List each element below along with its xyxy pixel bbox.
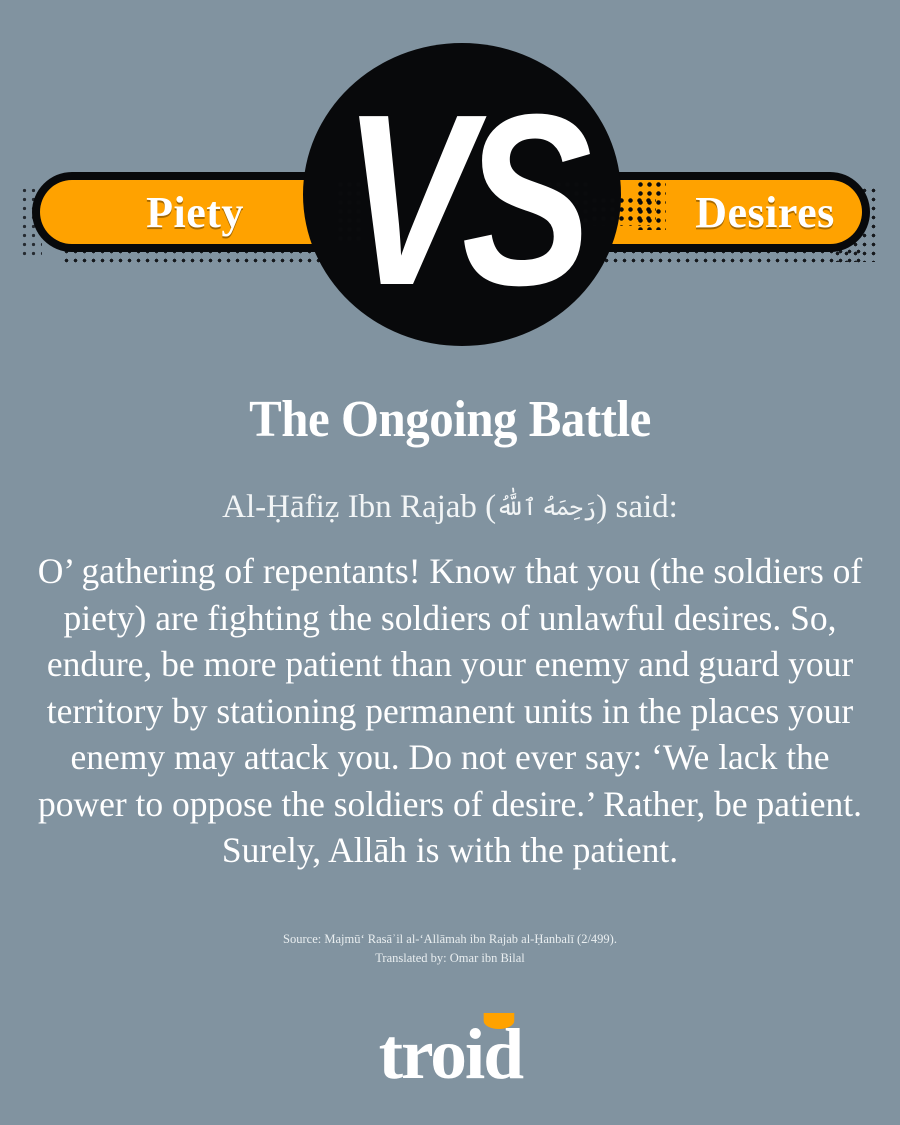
translator-credit: Translated by: Omar ibn Bilal — [0, 949, 900, 968]
credits-block: Source: Majmūʻ Rasāʾil al-ʻAllāmah ibn R… — [0, 930, 900, 969]
crescent-arc-icon — [483, 1013, 514, 1029]
rahimahullah-honorific: رَحِمَهُ ٱللَّٰهُ — [496, 495, 596, 520]
piety-label: Piety — [60, 180, 330, 244]
versus-label: VS — [343, 100, 581, 300]
versus-header-graphic: VS Piety Desires — [0, 0, 900, 370]
versus-badge: VS — [303, 43, 621, 346]
poster-canvas: VS Piety Desires The Ongoing Battle Al-Ḥ… — [0, 0, 900, 1125]
attribution-suffix: ) said: — [596, 489, 678, 525]
brand-wordmark-wrapper: troid — [378, 1018, 522, 1090]
desires-label: Desires — [672, 180, 858, 244]
quote-text: O’ gathering of repentants! Know that yo… — [36, 548, 864, 874]
page-title: The Ongoing Battle — [27, 391, 873, 448]
source-citation: Source: Majmūʻ Rasāʾil al-ʻAllāmah ibn R… — [0, 930, 900, 949]
attribution-line: Al-Ḥāfiẓ Ibn Rajab (رَحِمَهُ ٱللَّٰهُ) s… — [0, 487, 900, 528]
banner-dots-right-c-icon — [636, 180, 666, 230]
attribution-prefix: Al-Ḥāfiẓ Ibn Rajab ( — [222, 489, 496, 525]
brand-logo: troid — [0, 1014, 900, 1094]
